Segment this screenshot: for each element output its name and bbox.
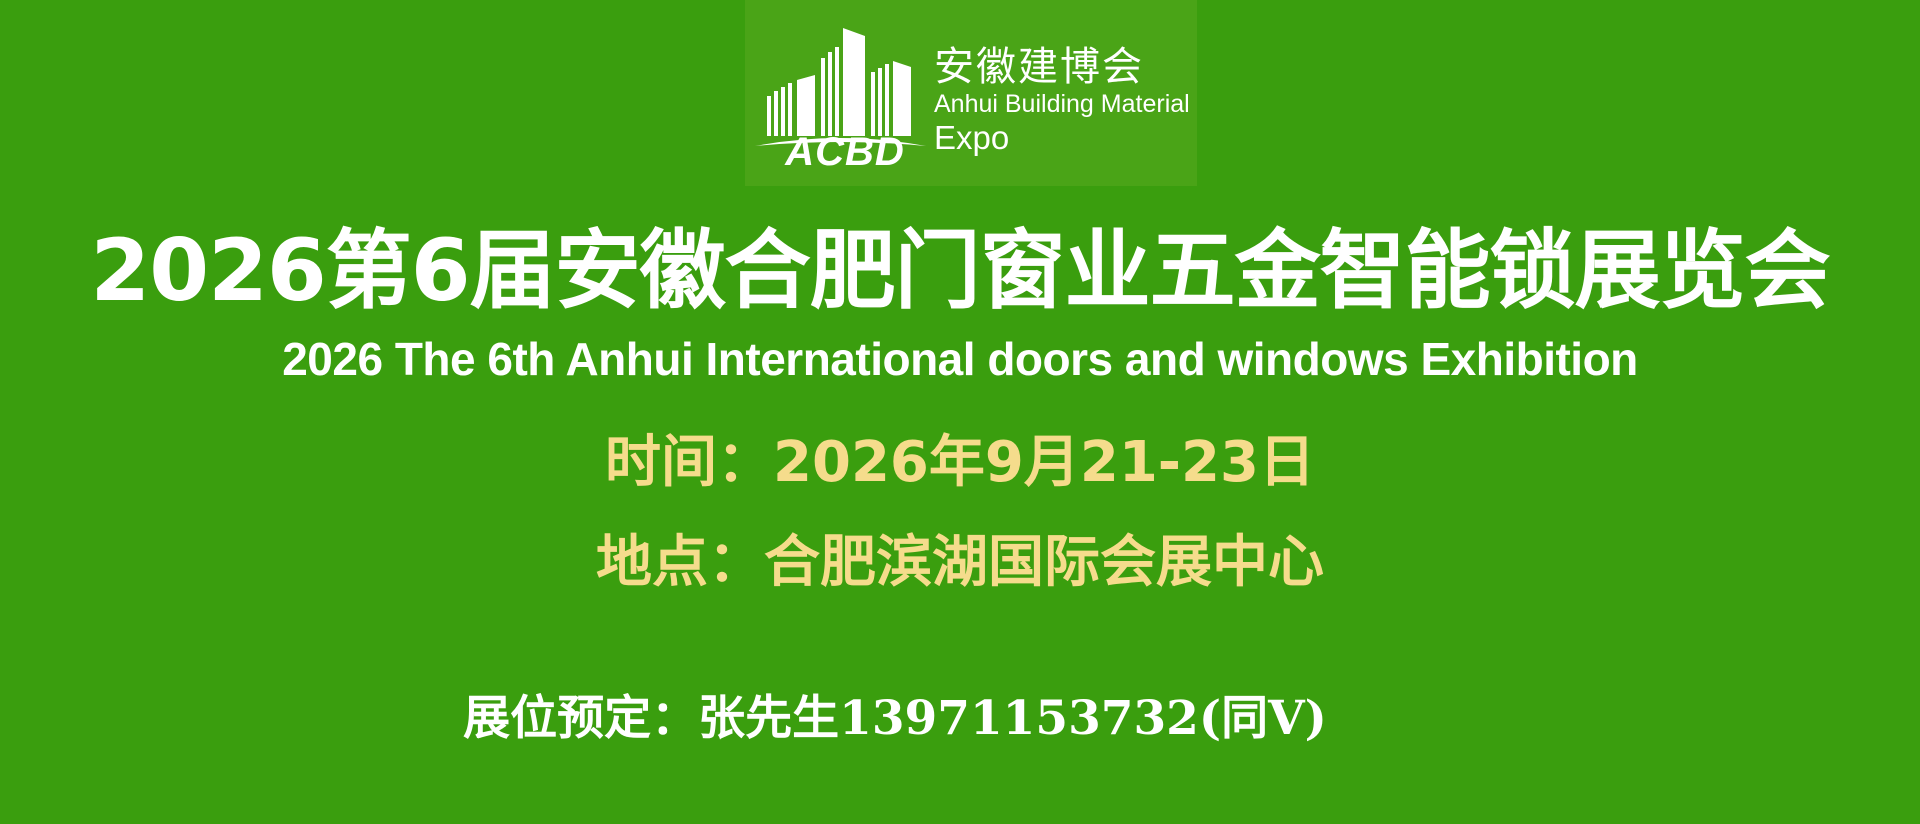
poster-headline-en: 2026 The 6th Anhui International doors a… — [0, 332, 1920, 386]
event-date-line: 时间：2026年9月21-23日 — [0, 430, 1920, 496]
booth-booking-contact: 展位预定：张先生13971153732(同V) — [0, 690, 1920, 748]
exhibition-poster: ACBD 安徽建博会 Anhui Building Material Expo … — [0, 0, 1920, 824]
acbd-acronym: ACBD — [761, 132, 929, 172]
expo-logo-text: 安徽建博会 Anhui Building Material Expo — [928, 30, 1197, 157]
expo-name-cn: 安徽建博会 — [934, 44, 1197, 90]
expo-name-en-line2: Expo — [934, 119, 1197, 157]
event-venue-line: 地点：合肥滨湖国际会展中心 — [0, 530, 1920, 596]
expo-logo-block: ACBD 安徽建博会 Anhui Building Material Expo — [745, 0, 1197, 186]
expo-name-en-line1: Anhui Building Material — [934, 90, 1197, 119]
acbd-logo-mark: ACBD — [753, 8, 928, 178]
poster-headline-cn: 2026第6届安徽合肥门窗业五金智能锁展览会 — [0, 223, 1920, 319]
